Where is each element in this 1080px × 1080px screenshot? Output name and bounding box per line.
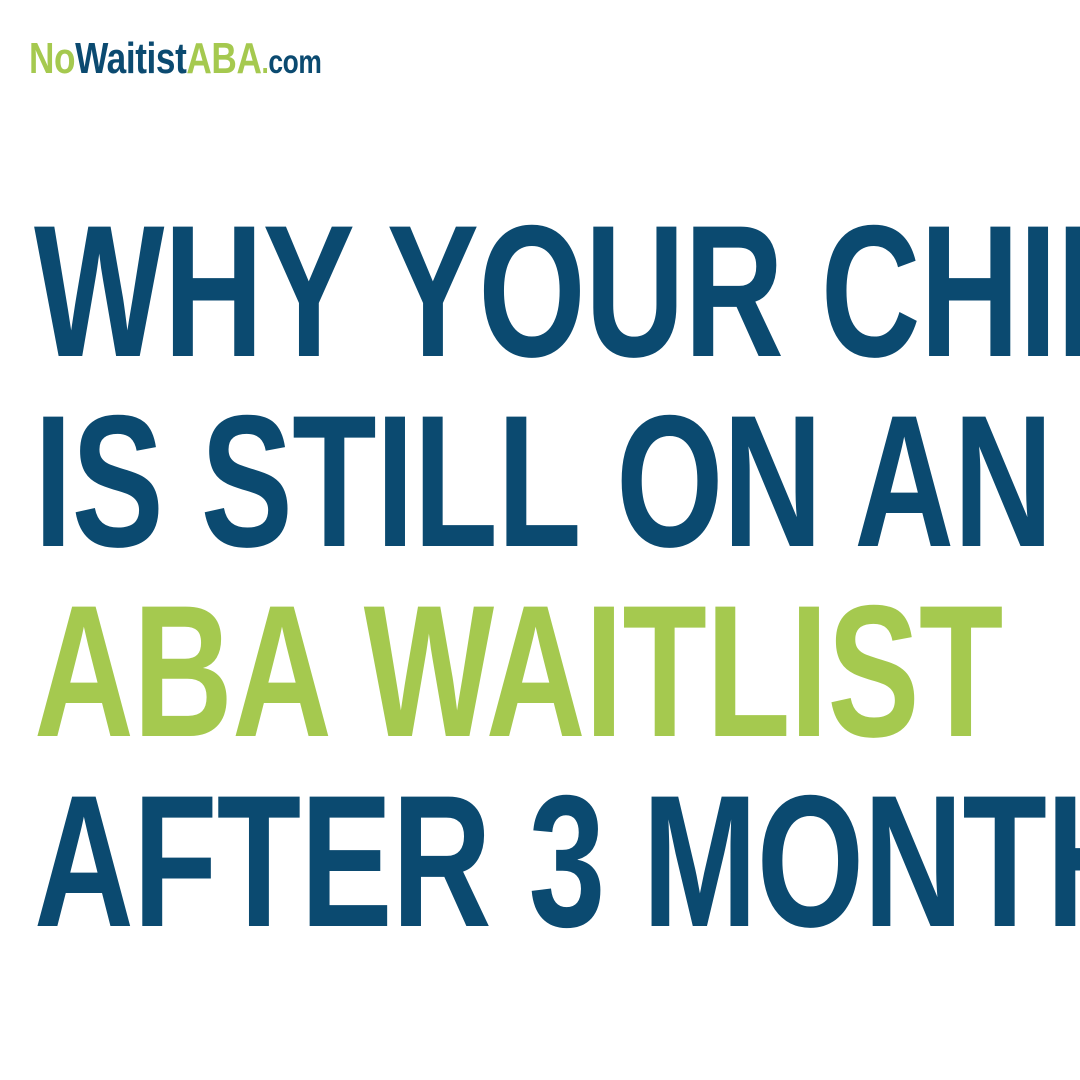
- headline-line-1: WHY YOUR CHILD: [34, 196, 776, 386]
- headline-block: WHY YOUR CHILD IS STILL ON AN ABA WAITLI…: [34, 196, 1044, 956]
- logo-part-waitist: Waitist: [75, 36, 186, 82]
- headline-line-4: AFTER 3 MONTHS.: [34, 766, 776, 956]
- logo-part-aba: ABA: [186, 36, 261, 82]
- headline-line-2: IS STILL ON AN: [34, 386, 776, 576]
- headline-line-3: ABA WAITLIST: [34, 576, 776, 766]
- logo-part-no: No: [29, 36, 75, 82]
- brand-logo: NoWaitistABA.com: [29, 36, 321, 82]
- social-graphic-canvas: NoWaitistABA.com WHY YOUR CHILD IS STILL…: [0, 0, 1080, 1080]
- logo-part-dot: .: [261, 39, 268, 85]
- logo-part-com: com: [268, 39, 321, 85]
